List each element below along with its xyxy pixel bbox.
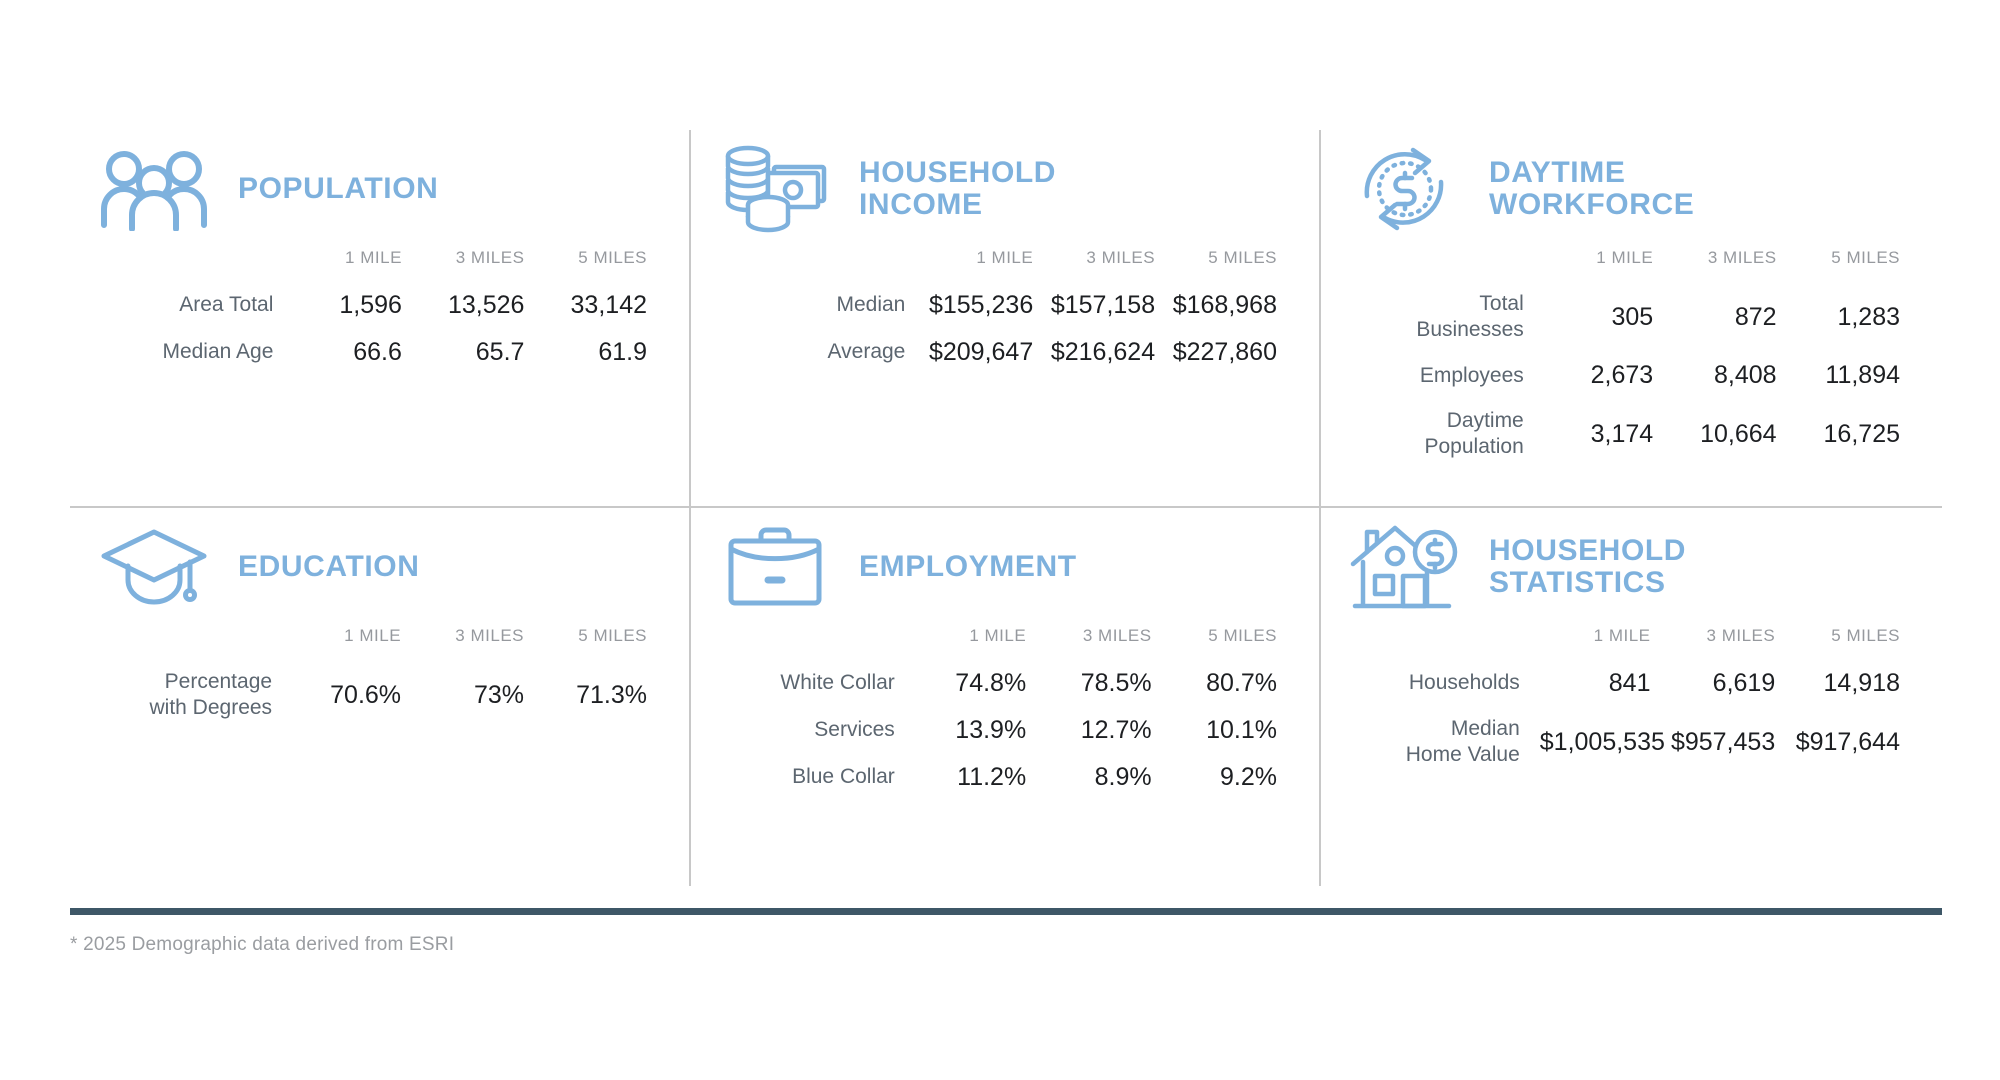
row-value: 6,619 bbox=[1665, 660, 1790, 707]
row-value: 13,526 bbox=[416, 282, 539, 329]
row-value: 70.6% bbox=[292, 660, 415, 730]
panel-title-line: EMPLOYMENT bbox=[859, 551, 1077, 583]
row-value: 8,408 bbox=[1667, 352, 1790, 399]
panel-title-household-income: HOUSEHOLD INCOME bbox=[859, 157, 1056, 222]
row-value: 80.7% bbox=[1166, 660, 1291, 707]
row-value: 61.9 bbox=[538, 329, 661, 376]
table-row: White Collar 74.8% 78.5% 80.7% bbox=[721, 660, 1291, 707]
dollar-refresh-icon bbox=[1347, 139, 1463, 239]
table-wrap-employment: 1 MILE 3 MILES 5 MILES White Collar 74.8… bbox=[691, 626, 1301, 801]
column-header-5-miles: 5 MILES bbox=[1166, 626, 1291, 660]
column-header-5-miles: 5 MILES bbox=[538, 248, 661, 282]
table-header-row: 1 MILE 3 MILES 5 MILES bbox=[737, 248, 1291, 282]
row-value: 73% bbox=[415, 660, 538, 730]
table-row: Area Total 1,596 13,526 33,142 bbox=[104, 282, 661, 329]
row-value: $1,005,535 bbox=[1540, 707, 1665, 777]
header-blank bbox=[737, 248, 925, 282]
row-label: Median bbox=[737, 282, 925, 329]
row-value: 65.7 bbox=[416, 329, 539, 376]
table-row: Median Home Value $1,005,535 $957,453 $9… bbox=[1347, 707, 1914, 777]
data-table-education: 1 MILE 3 MILES 5 MILES Percentage with D… bbox=[102, 626, 661, 730]
row-label: Area Total bbox=[104, 282, 293, 329]
row-value: 2,673 bbox=[1544, 352, 1667, 399]
panel-header-household-income: HOUSEHOLD INCOME bbox=[691, 130, 1301, 248]
row-value: $155,236 bbox=[925, 282, 1047, 329]
panel-grid: POPULATION 1 MILE 3 MILES 5 MILES bbox=[70, 130, 1942, 886]
column-header-3-miles: 3 MILES bbox=[415, 626, 538, 660]
row-value: 3,174 bbox=[1544, 399, 1667, 469]
row-value: $209,647 bbox=[925, 329, 1047, 376]
panel-household-income: HOUSEHOLD INCOME 1 MILE 3 MILES 5 MILES bbox=[691, 130, 1321, 508]
panel-header-daytime-workforce: DAYTIME WORKFORCE bbox=[1321, 130, 1924, 248]
panel-header-population: POPULATION bbox=[70, 130, 671, 248]
row-label: Daytime Population bbox=[1353, 399, 1544, 469]
panel-daytime-workforce: DAYTIME WORKFORCE 1 MILE 3 MILES 5 MILES bbox=[1321, 130, 1942, 508]
footer-divider bbox=[70, 908, 1942, 915]
row-label: Services bbox=[721, 707, 915, 754]
column-header-3-miles: 3 MILES bbox=[1040, 626, 1165, 660]
row-value: 11.2% bbox=[915, 754, 1040, 801]
column-header-5-miles: 5 MILES bbox=[1789, 626, 1914, 660]
row-value: 1,596 bbox=[293, 282, 416, 329]
table-row: Average $209,647 $216,624 $227,860 bbox=[737, 329, 1291, 376]
panel-title-line: HOUSEHOLD bbox=[1489, 535, 1686, 567]
column-header-1-mile: 1 MILE bbox=[915, 626, 1040, 660]
panel-header-household-statistics: HOUSEHOLD STATISTICS bbox=[1321, 508, 1924, 626]
coins-cash-icon bbox=[717, 139, 833, 239]
table-wrap-household-statistics: 1 MILE 3 MILES 5 MILES Households 841 6,… bbox=[1321, 626, 1924, 777]
row-value: 305 bbox=[1544, 282, 1667, 352]
panel-title-line: HOUSEHOLD bbox=[859, 157, 1056, 189]
table-header-row: 1 MILE 3 MILES 5 MILES bbox=[104, 248, 661, 282]
row-label: Employees bbox=[1353, 352, 1544, 399]
house-dollar-icon bbox=[1347, 517, 1463, 617]
row-value: $168,968 bbox=[1169, 282, 1291, 329]
panel-employment: EMPLOYMENT 1 MILE 3 MILES 5 MILES bbox=[691, 508, 1321, 886]
panel-title-line: INCOME bbox=[859, 189, 1056, 221]
row-label: Median Age bbox=[104, 329, 293, 376]
row-value: 74.8% bbox=[915, 660, 1040, 707]
row-value: 12.7% bbox=[1040, 707, 1165, 754]
column-header-5-miles: 5 MILES bbox=[1169, 248, 1291, 282]
column-header-1-mile: 1 MILE bbox=[925, 248, 1047, 282]
header-blank bbox=[1347, 626, 1540, 660]
row-label: White Collar bbox=[721, 660, 915, 707]
briefcase-icon bbox=[717, 517, 833, 617]
panel-title-employment: EMPLOYMENT bbox=[859, 551, 1077, 583]
table-wrap-daytime-workforce: 1 MILE 3 MILES 5 MILES Total Businesses … bbox=[1321, 248, 1924, 469]
panel-education: EDUCATION 1 MILE 3 MILES 5 MILES bbox=[70, 508, 691, 886]
footnote-source: * 2025 Demographic data derived from ESR… bbox=[70, 934, 454, 956]
column-header-3-miles: 3 MILES bbox=[1665, 626, 1790, 660]
table-wrap-education: 1 MILE 3 MILES 5 MILES Percentage with D… bbox=[70, 626, 671, 730]
row-value: $957,453 bbox=[1665, 707, 1790, 777]
panel-title-line: POPULATION bbox=[238, 173, 438, 205]
panel-title-line: WORKFORCE bbox=[1489, 189, 1694, 221]
row-value: 33,142 bbox=[538, 282, 661, 329]
row-value: 66.6 bbox=[293, 329, 416, 376]
row-label: Median Home Value bbox=[1347, 707, 1540, 777]
data-table-household-statistics: 1 MILE 3 MILES 5 MILES Households 841 6,… bbox=[1347, 626, 1914, 777]
table-header-row: 1 MILE 3 MILES 5 MILES bbox=[721, 626, 1291, 660]
row-label: Average bbox=[737, 329, 925, 376]
column-header-1-mile: 1 MILE bbox=[292, 626, 415, 660]
row-label: Blue Collar bbox=[721, 754, 915, 801]
panel-title-line: EDUCATION bbox=[238, 551, 420, 583]
header-blank bbox=[104, 248, 293, 282]
panel-title-population: POPULATION bbox=[238, 173, 438, 205]
column-header-3-miles: 3 MILES bbox=[1047, 248, 1169, 282]
row-value: $216,624 bbox=[1047, 329, 1169, 376]
row-label: Total Businesses bbox=[1353, 282, 1544, 352]
row-label: Percentage with Degrees bbox=[102, 660, 292, 730]
table-row: Households 841 6,619 14,918 bbox=[1347, 660, 1914, 707]
table-row: Total Businesses 305 872 1,283 bbox=[1353, 282, 1914, 352]
row-value: 9.2% bbox=[1166, 754, 1291, 801]
table-header-row: 1 MILE 3 MILES 5 MILES bbox=[102, 626, 661, 660]
row-value: 16,725 bbox=[1791, 399, 1914, 469]
panel-header-employment: EMPLOYMENT bbox=[691, 508, 1301, 626]
row-value: $157,158 bbox=[1047, 282, 1169, 329]
column-header-1-mile: 1 MILE bbox=[1540, 626, 1665, 660]
row-value: $917,644 bbox=[1789, 707, 1914, 777]
row-value: 13.9% bbox=[915, 707, 1040, 754]
header-blank bbox=[721, 626, 915, 660]
table-wrap-household-income: 1 MILE 3 MILES 5 MILES Median $155,236 $… bbox=[691, 248, 1301, 376]
panel-title-daytime-workforce: DAYTIME WORKFORCE bbox=[1489, 157, 1694, 222]
row-value: 71.3% bbox=[538, 660, 661, 730]
column-header-1-mile: 1 MILE bbox=[293, 248, 416, 282]
column-header-1-mile: 1 MILE bbox=[1544, 248, 1667, 282]
data-table-household-income: 1 MILE 3 MILES 5 MILES Median $155,236 $… bbox=[737, 248, 1291, 376]
table-row: Daytime Population 3,174 10,664 16,725 bbox=[1353, 399, 1914, 469]
table-header-row: 1 MILE 3 MILES 5 MILES bbox=[1347, 626, 1914, 660]
row-value: 841 bbox=[1540, 660, 1665, 707]
row-label: Households bbox=[1347, 660, 1540, 707]
row-value: 14,918 bbox=[1789, 660, 1914, 707]
data-table-population: 1 MILE 3 MILES 5 MILES Area Total 1,596 … bbox=[104, 248, 661, 376]
data-table-daytime-workforce: 1 MILE 3 MILES 5 MILES Total Businesses … bbox=[1353, 248, 1914, 469]
table-wrap-population: 1 MILE 3 MILES 5 MILES Area Total 1,596 … bbox=[70, 248, 671, 376]
column-header-5-miles: 5 MILES bbox=[1791, 248, 1914, 282]
panel-title-education: EDUCATION bbox=[238, 551, 420, 583]
table-row: Services 13.9% 12.7% 10.1% bbox=[721, 707, 1291, 754]
data-table-employment: 1 MILE 3 MILES 5 MILES White Collar 74.8… bbox=[721, 626, 1291, 801]
table-row: Blue Collar 11.2% 8.9% 9.2% bbox=[721, 754, 1291, 801]
table-row: Median Age 66.6 65.7 61.9 bbox=[104, 329, 661, 376]
panel-household-statistics: HOUSEHOLD STATISTICS 1 MILE 3 MILES 5 MI… bbox=[1321, 508, 1942, 886]
panel-population: POPULATION 1 MILE 3 MILES 5 MILES bbox=[70, 130, 691, 508]
panel-title-household-statistics: HOUSEHOLD STATISTICS bbox=[1489, 535, 1686, 600]
graduation-cap-icon bbox=[96, 517, 212, 617]
row-value: 1,283 bbox=[1791, 282, 1914, 352]
column-header-5-miles: 5 MILES bbox=[538, 626, 661, 660]
row-value: 8.9% bbox=[1040, 754, 1165, 801]
column-header-3-miles: 3 MILES bbox=[416, 248, 539, 282]
table-row: Median $155,236 $157,158 $168,968 bbox=[737, 282, 1291, 329]
row-value: 78.5% bbox=[1040, 660, 1165, 707]
table-row: Employees 2,673 8,408 11,894 bbox=[1353, 352, 1914, 399]
panel-header-education: EDUCATION bbox=[70, 508, 671, 626]
header-blank bbox=[102, 626, 292, 660]
table-row: Percentage with Degrees 70.6% 73% 71.3% bbox=[102, 660, 661, 730]
column-header-3-miles: 3 MILES bbox=[1667, 248, 1790, 282]
row-value: 11,894 bbox=[1791, 352, 1914, 399]
row-value: 10,664 bbox=[1667, 399, 1790, 469]
row-value: 10.1% bbox=[1166, 707, 1291, 754]
row-value: $227,860 bbox=[1169, 329, 1291, 376]
people-group-icon bbox=[96, 139, 212, 239]
panel-title-line: DAYTIME bbox=[1489, 157, 1694, 189]
header-blank bbox=[1353, 248, 1544, 282]
table-header-row: 1 MILE 3 MILES 5 MILES bbox=[1353, 248, 1914, 282]
row-value: 872 bbox=[1667, 282, 1790, 352]
panel-title-line: STATISTICS bbox=[1489, 567, 1686, 599]
demographics-infographic: POPULATION 1 MILE 3 MILES 5 MILES bbox=[0, 0, 2000, 1080]
